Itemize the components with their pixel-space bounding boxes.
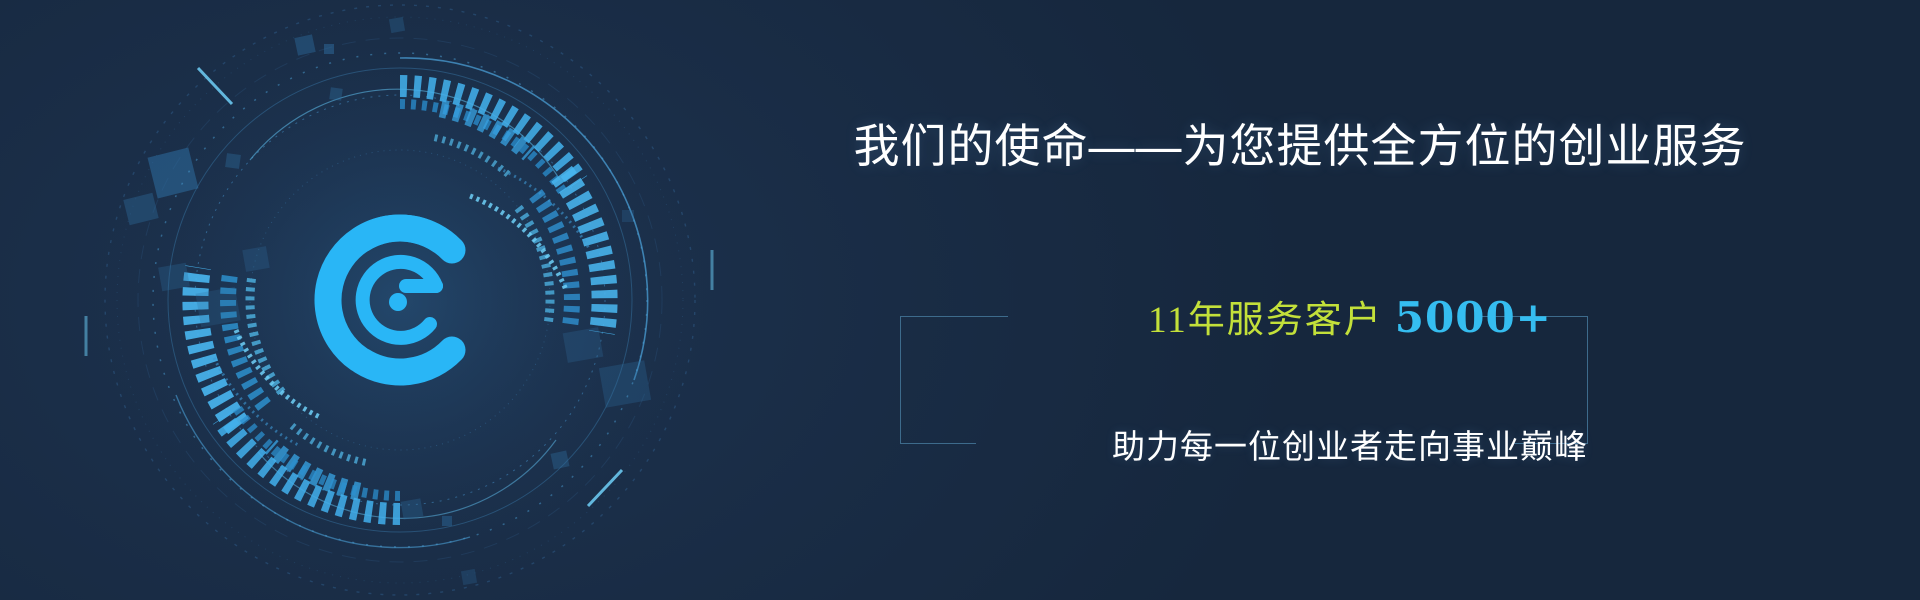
tech-circle-svg	[0, 0, 800, 600]
frame-left-edge	[900, 316, 901, 444]
frame-bottom-left-segment	[900, 443, 976, 444]
content-column: 我们的使命——为您提供全方位的创业服务 11年服务客户 5000+ 助力每一位创…	[780, 0, 1920, 600]
page-title: 我们的使命——为您提供全方位的创业服务	[780, 118, 1820, 176]
stat-label: 11年服务客户	[1148, 289, 1383, 343]
tagline: 助力每一位创业者走向事业巅峰	[1112, 420, 1588, 468]
tech-circle-graphic	[0, 0, 800, 600]
hero-banner: 我们的使命——为您提供全方位的创业服务 11年服务客户 5000+ 助力每一位创…	[0, 0, 1920, 600]
stat-number: 5000+	[1395, 293, 1552, 342]
frame-top-left-segment	[900, 316, 1008, 317]
stat-line: 11年服务客户 5000+	[1148, 289, 1552, 343]
